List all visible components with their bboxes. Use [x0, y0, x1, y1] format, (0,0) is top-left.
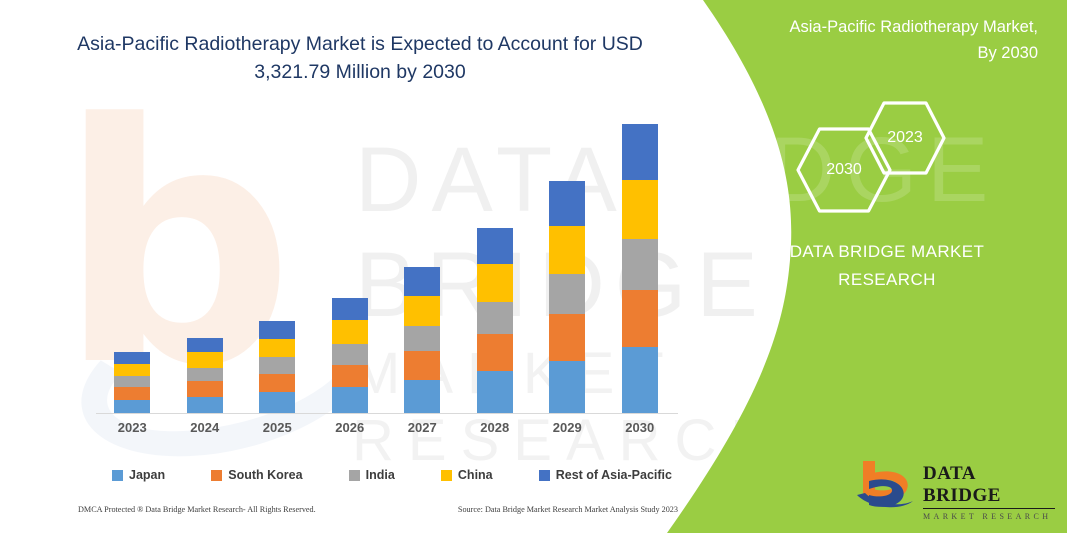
bar-segment[interactable]: [404, 326, 440, 352]
legend-swatch-icon: [112, 470, 123, 481]
bar-segment[interactable]: [259, 339, 295, 358]
legend-label: Japan: [129, 468, 165, 482]
hexagon-2023-label: 2023: [887, 129, 923, 147]
bar-segment[interactable]: [332, 298, 368, 321]
x-axis-label-2024: 2024: [175, 420, 235, 435]
x-axis-label-2029: 2029: [537, 420, 597, 435]
hexagon-2030-label: 2030: [826, 161, 862, 179]
chart-title: Asia-Pacific Radiotherapy Market is Expe…: [40, 30, 680, 86]
chart-legend: JapanSouth KoreaIndiaChinaRest of Asia-P…: [112, 464, 672, 486]
legend-label: South Korea: [228, 468, 302, 482]
legend-swatch-icon: [211, 470, 222, 481]
bar-segment[interactable]: [332, 320, 368, 344]
bar-segment[interactable]: [404, 351, 440, 380]
bar-segment[interactable]: [332, 365, 368, 388]
bar-segment[interactable]: [259, 392, 295, 414]
bar-segment[interactable]: [259, 321, 295, 338]
company-logo-tagline: MARKET RESEARCH: [923, 512, 1055, 521]
bar-segment[interactable]: [477, 371, 513, 414]
bar-segment[interactable]: [622, 239, 658, 289]
bar-segment[interactable]: [549, 314, 585, 360]
legend-swatch-icon: [441, 470, 452, 481]
bar-segment[interactable]: [114, 364, 150, 376]
footer-source: Source: Data Bridge Market Research Mark…: [458, 505, 678, 514]
bar-segment[interactable]: [187, 338, 223, 352]
bar-group-2028[interactable]: [477, 228, 513, 414]
bar-group-2025[interactable]: [259, 321, 295, 414]
bar-segment[interactable]: [187, 352, 223, 367]
footer: DMCA Protected ® Data Bridge Market Rese…: [78, 505, 678, 514]
legend-item-japan[interactable]: Japan: [112, 468, 165, 482]
hexagon-group: 2030 2023: [795, 100, 1055, 215]
x-axis-label-2027: 2027: [392, 420, 452, 435]
infographic-root: b DATA BRIDGE MARKET RESEARCH Asia-Pacif…: [0, 0, 1067, 533]
panel-title-line2: By 2030: [738, 40, 1038, 66]
company-logo-name: DATA BRIDGE: [923, 463, 1055, 509]
bar-group-2030[interactable]: [622, 124, 658, 414]
legend-item-india[interactable]: India: [349, 468, 395, 482]
company-logo: DATA BRIDGE MARKET RESEARCH: [855, 455, 1055, 513]
branding-panel: RIDGE Asia-Pacific Radiotherapy Market, …: [667, 0, 1067, 533]
bar-group-2026[interactable]: [332, 298, 368, 414]
panel-title: Asia-Pacific Radiotherapy Market, By 203…: [738, 14, 1038, 66]
bar-segment[interactable]: [549, 226, 585, 274]
bar-segment[interactable]: [332, 387, 368, 414]
legend-item-china[interactable]: China: [441, 468, 493, 482]
bar-group-2027[interactable]: [404, 267, 440, 414]
data-bridge-logo-icon: [855, 459, 917, 511]
bar-segment[interactable]: [622, 180, 658, 240]
bar-group-2023[interactable]: [114, 352, 150, 414]
panel-brand-line2: RESEARCH: [747, 266, 1027, 294]
bar-segment[interactable]: [477, 334, 513, 371]
legend-swatch-icon: [349, 470, 360, 481]
bar-group-2024[interactable]: [187, 338, 223, 414]
legend-swatch-icon: [539, 470, 550, 481]
bar-segment[interactable]: [259, 374, 295, 393]
x-axis-label-2030: 2030: [610, 420, 670, 435]
x-axis-label-2026: 2026: [320, 420, 380, 435]
bar-segment[interactable]: [114, 352, 150, 363]
bar-segment[interactable]: [549, 361, 585, 414]
chart-area: Asia-Pacific Radiotherapy Market is Expe…: [0, 0, 712, 533]
bar-segment[interactable]: [187, 368, 223, 381]
footer-copyright: DMCA Protected ® Data Bridge Market Rese…: [78, 505, 316, 514]
x-axis-label-2028: 2028: [465, 420, 525, 435]
stacked-bar-plot: [96, 110, 676, 414]
bar-segment[interactable]: [622, 124, 658, 180]
bar-segment[interactable]: [477, 302, 513, 334]
bar-segment[interactable]: [187, 381, 223, 396]
x-axis-label-2023: 2023: [102, 420, 162, 435]
bar-segment[interactable]: [114, 400, 150, 414]
bar-segment[interactable]: [404, 380, 440, 414]
legend-label: China: [458, 468, 493, 482]
bar-segment[interactable]: [477, 264, 513, 302]
bar-segment[interactable]: [549, 274, 585, 314]
bar-segment[interactable]: [477, 228, 513, 264]
x-axis-label-2025: 2025: [247, 420, 307, 435]
x-axis-labels: 20232024202520262027202820292030: [96, 420, 676, 442]
legend-label: Rest of Asia-Pacific: [556, 468, 672, 482]
bar-segment[interactable]: [549, 181, 585, 226]
company-logo-text: DATA BRIDGE MARKET RESEARCH: [923, 463, 1055, 521]
panel-brand-line1: DATA BRIDGE MARKET: [747, 238, 1027, 266]
bar-segment[interactable]: [404, 267, 440, 296]
bar-segment[interactable]: [114, 387, 150, 399]
bar-segment[interactable]: [114, 376, 150, 387]
hexagon-2023: 2023: [863, 100, 947, 176]
legend-item-rest-of-asia-pacific[interactable]: Rest of Asia-Pacific: [539, 468, 672, 482]
bar-segment[interactable]: [187, 397, 223, 414]
bar-segment[interactable]: [404, 296, 440, 326]
legend-label: India: [366, 468, 395, 482]
x-axis-line: [96, 413, 678, 414]
bar-group-2029[interactable]: [549, 181, 585, 414]
bar-segment[interactable]: [622, 347, 658, 414]
legend-item-south-korea[interactable]: South Korea: [211, 468, 302, 482]
panel-brand-name: DATA BRIDGE MARKET RESEARCH: [747, 238, 1027, 294]
bar-segment[interactable]: [622, 290, 658, 348]
bar-segment[interactable]: [259, 357, 295, 373]
panel-title-line1: Asia-Pacific Radiotherapy Market,: [738, 14, 1038, 40]
bar-segment[interactable]: [332, 344, 368, 365]
